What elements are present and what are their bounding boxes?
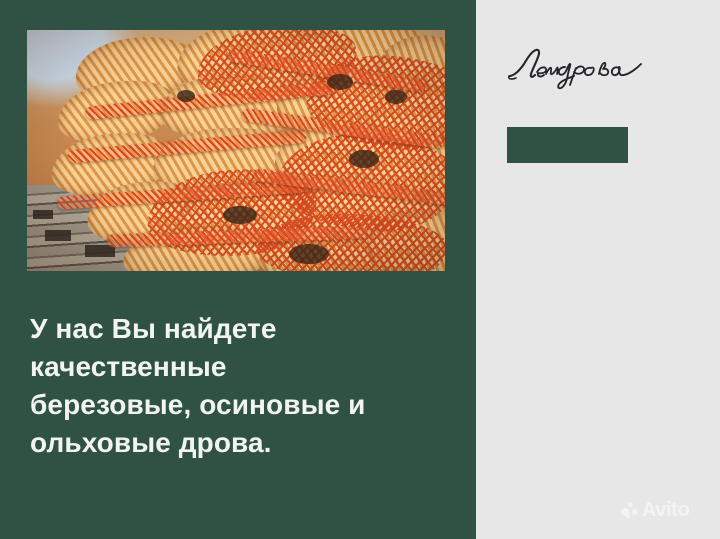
pallet-gap — [45, 230, 71, 241]
shadow-gap — [385, 90, 407, 104]
avito-dots-icon — [621, 502, 638, 519]
firewood-photo — [27, 30, 445, 271]
headline-line-3: березовые, осиновые и — [30, 386, 450, 424]
headline-line-2: качественные — [30, 348, 450, 386]
headline-line-4: ольховые дрова. — [30, 424, 450, 462]
photo-background — [27, 30, 445, 271]
shadow-gap — [327, 74, 353, 90]
shadow-gap — [349, 150, 379, 168]
right-light-panel — [476, 0, 720, 539]
pallet-gap — [33, 210, 53, 219]
brand-signature-logo — [507, 42, 657, 92]
headline-line-1: У нас Вы найдете — [30, 310, 450, 348]
shadow-gap — [223, 206, 257, 224]
screenshot-canvas: У нас Вы найдете качественные березовые,… — [0, 0, 720, 539]
avito-watermark: Avito — [621, 500, 689, 520]
left-green-panel: У нас Вы найдете качественные березовые,… — [0, 0, 476, 539]
brand-color-bar — [507, 127, 628, 163]
avito-wordmark: Avito — [642, 500, 689, 520]
signature-icon — [507, 42, 657, 92]
headline-text: У нас Вы найдете качественные березовые,… — [30, 310, 450, 462]
shadow-gap — [289, 244, 329, 264]
shadow-gap — [177, 90, 195, 102]
